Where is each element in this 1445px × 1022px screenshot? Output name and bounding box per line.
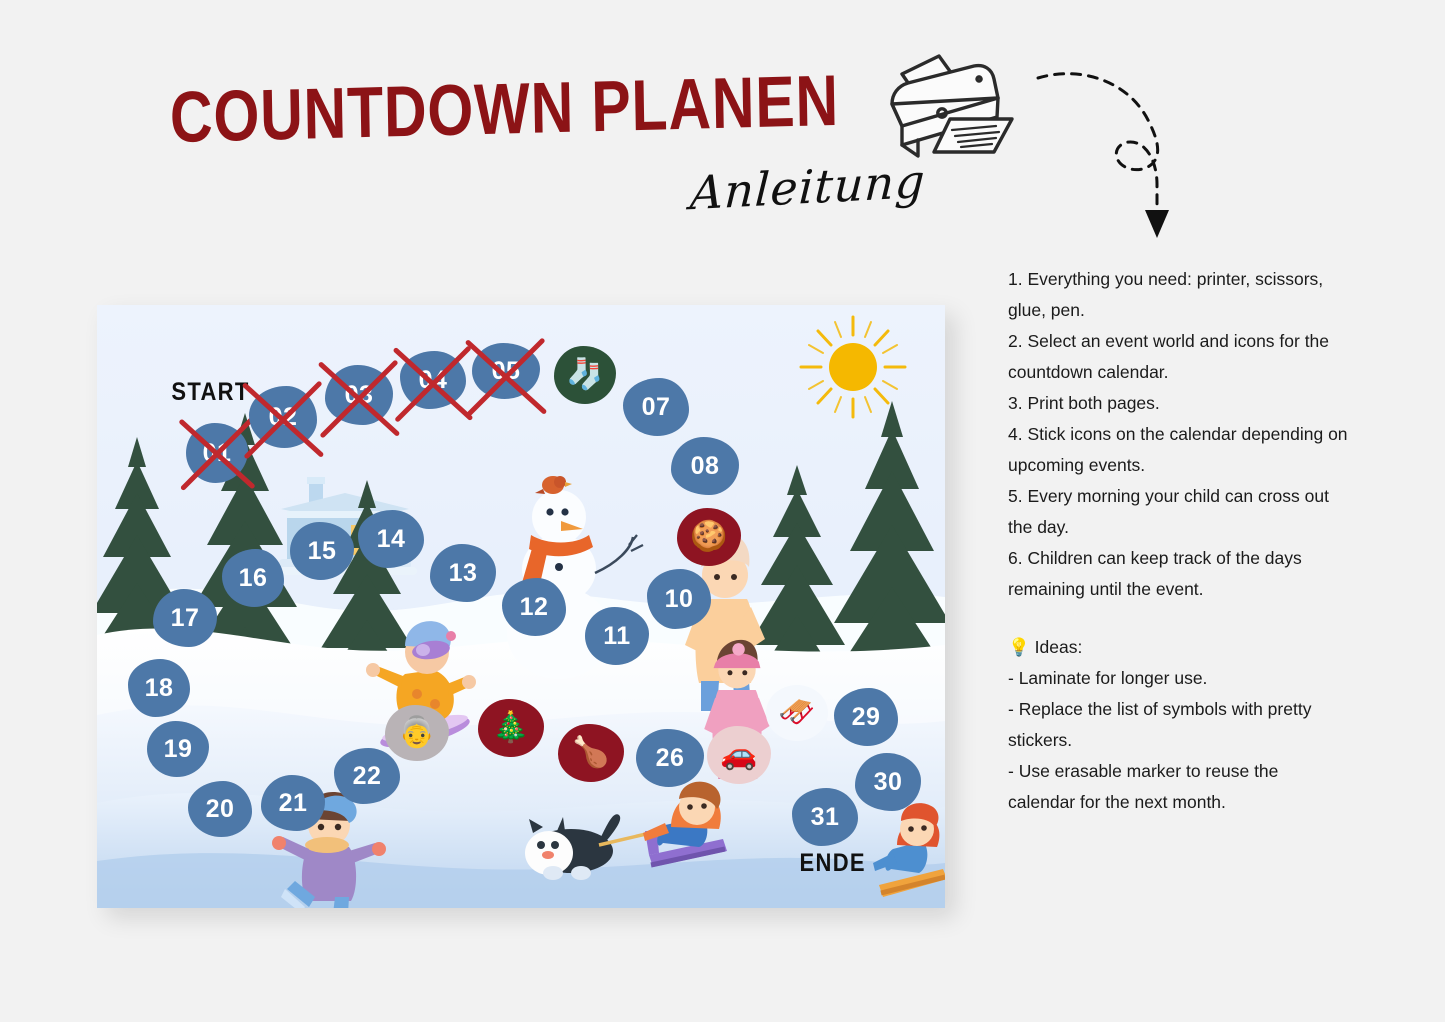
- day-number: 11: [603, 622, 630, 651]
- day-circle-17[interactable]: 17: [153, 589, 217, 647]
- day-number: 17: [171, 604, 200, 633]
- idea-item: - Laminate for longer use.: [1008, 663, 1348, 694]
- page-title: COUNTDOWN PLANEN: [169, 65, 839, 154]
- start-label: START: [171, 378, 249, 407]
- day-number: 03: [345, 381, 374, 410]
- day-number: 02: [269, 403, 298, 432]
- stocking-sticker-glyph: 🧦: [566, 360, 603, 390]
- day-number: 10: [665, 585, 694, 614]
- day-number: 31: [811, 803, 840, 832]
- day-number: 08: [691, 452, 720, 481]
- day-number: 19: [164, 735, 193, 764]
- day-circle-21[interactable]: 21: [261, 775, 325, 831]
- day-number: 04: [419, 366, 448, 395]
- day-number: 12: [520, 593, 549, 622]
- lightbulb-icon: 💡: [1008, 637, 1030, 657]
- day-number: 15: [308, 537, 337, 566]
- board-canvas: START ENDE 01020304050708101112131415161…: [97, 305, 945, 908]
- day-number: 29: [852, 703, 881, 732]
- grandparents-sticker-glyph: 👵: [398, 718, 435, 748]
- day-number: 22: [353, 762, 382, 791]
- day-circle-08[interactable]: 08: [671, 437, 739, 495]
- day-number: 26: [656, 744, 685, 773]
- day-number: 13: [449, 559, 478, 588]
- day-number: 01: [203, 439, 232, 468]
- instruction-step: 1. Everything you need: printer, scissor…: [1008, 264, 1348, 326]
- day-number: 20: [206, 795, 235, 824]
- day-number: 16: [239, 564, 268, 593]
- poster-page: COUNTDOWN PLANEN Anleitung: [0, 0, 1445, 1022]
- day-number: 30: [874, 768, 903, 797]
- sledding-sticker-glyph: 🛷: [778, 698, 815, 728]
- day-number: 18: [145, 674, 174, 703]
- day-circle-07[interactable]: 07: [623, 378, 689, 436]
- christmas-tree-sticker-glyph: 🎄: [492, 713, 529, 743]
- day-circle-12[interactable]: 12: [502, 578, 566, 636]
- day-number: 07: [642, 393, 671, 422]
- day-circle-20[interactable]: 20: [188, 781, 252, 837]
- instruction-step: 2. Select an event world and icons for t…: [1008, 326, 1348, 388]
- day-circle-13[interactable]: 13: [430, 544, 496, 602]
- roast-dinner-sticker-glyph: 🍗: [572, 738, 609, 768]
- day-number: 05: [492, 357, 521, 386]
- day-number: 21: [279, 789, 308, 818]
- instruction-step: 4. Stick icons on the calendar depending…: [1008, 419, 1348, 481]
- sledding-sticker[interactable]: 🛷: [766, 685, 828, 741]
- curved-dashed-arrow-icon: [1020, 52, 1205, 257]
- ideas-heading: 💡 Ideas:: [1008, 632, 1348, 663]
- instruction-step: 3. Print both pages.: [1008, 388, 1348, 419]
- day-circle-02[interactable]: 02: [249, 386, 317, 448]
- car-sticker-glyph: 🚗: [720, 740, 757, 770]
- instructions-panel: 1. Everything you need: printer, scissor…: [1008, 264, 1348, 818]
- countdown-board: START ENDE 01020304050708101112131415161…: [97, 305, 945, 908]
- idea-item: - Use erasable marker to reuse the calen…: [1008, 756, 1348, 818]
- header: COUNTDOWN PLANEN Anleitung: [0, 0, 1445, 270]
- day-circle-30[interactable]: 30: [855, 753, 921, 811]
- day-number: 14: [377, 525, 406, 554]
- day-circle-03[interactable]: 03: [325, 365, 393, 425]
- ideas-section: 💡 Ideas: - Laminate for longer use. - Re…: [1008, 632, 1348, 818]
- instruction-step: 6. Children can keep track of the days r…: [1008, 543, 1348, 605]
- printer-icon: [878, 48, 1026, 175]
- baking-sticker-glyph: 🍪: [690, 522, 727, 552]
- instruction-step: 5. Every morning your child can cross ou…: [1008, 481, 1348, 543]
- day-circle-29[interactable]: 29: [834, 688, 898, 746]
- idea-item: - Replace the list of symbols with prett…: [1008, 694, 1348, 756]
- day-circle-16[interactable]: 16: [222, 549, 284, 607]
- ideas-heading-label: Ideas:: [1035, 637, 1083, 657]
- end-label: ENDE: [800, 849, 866, 878]
